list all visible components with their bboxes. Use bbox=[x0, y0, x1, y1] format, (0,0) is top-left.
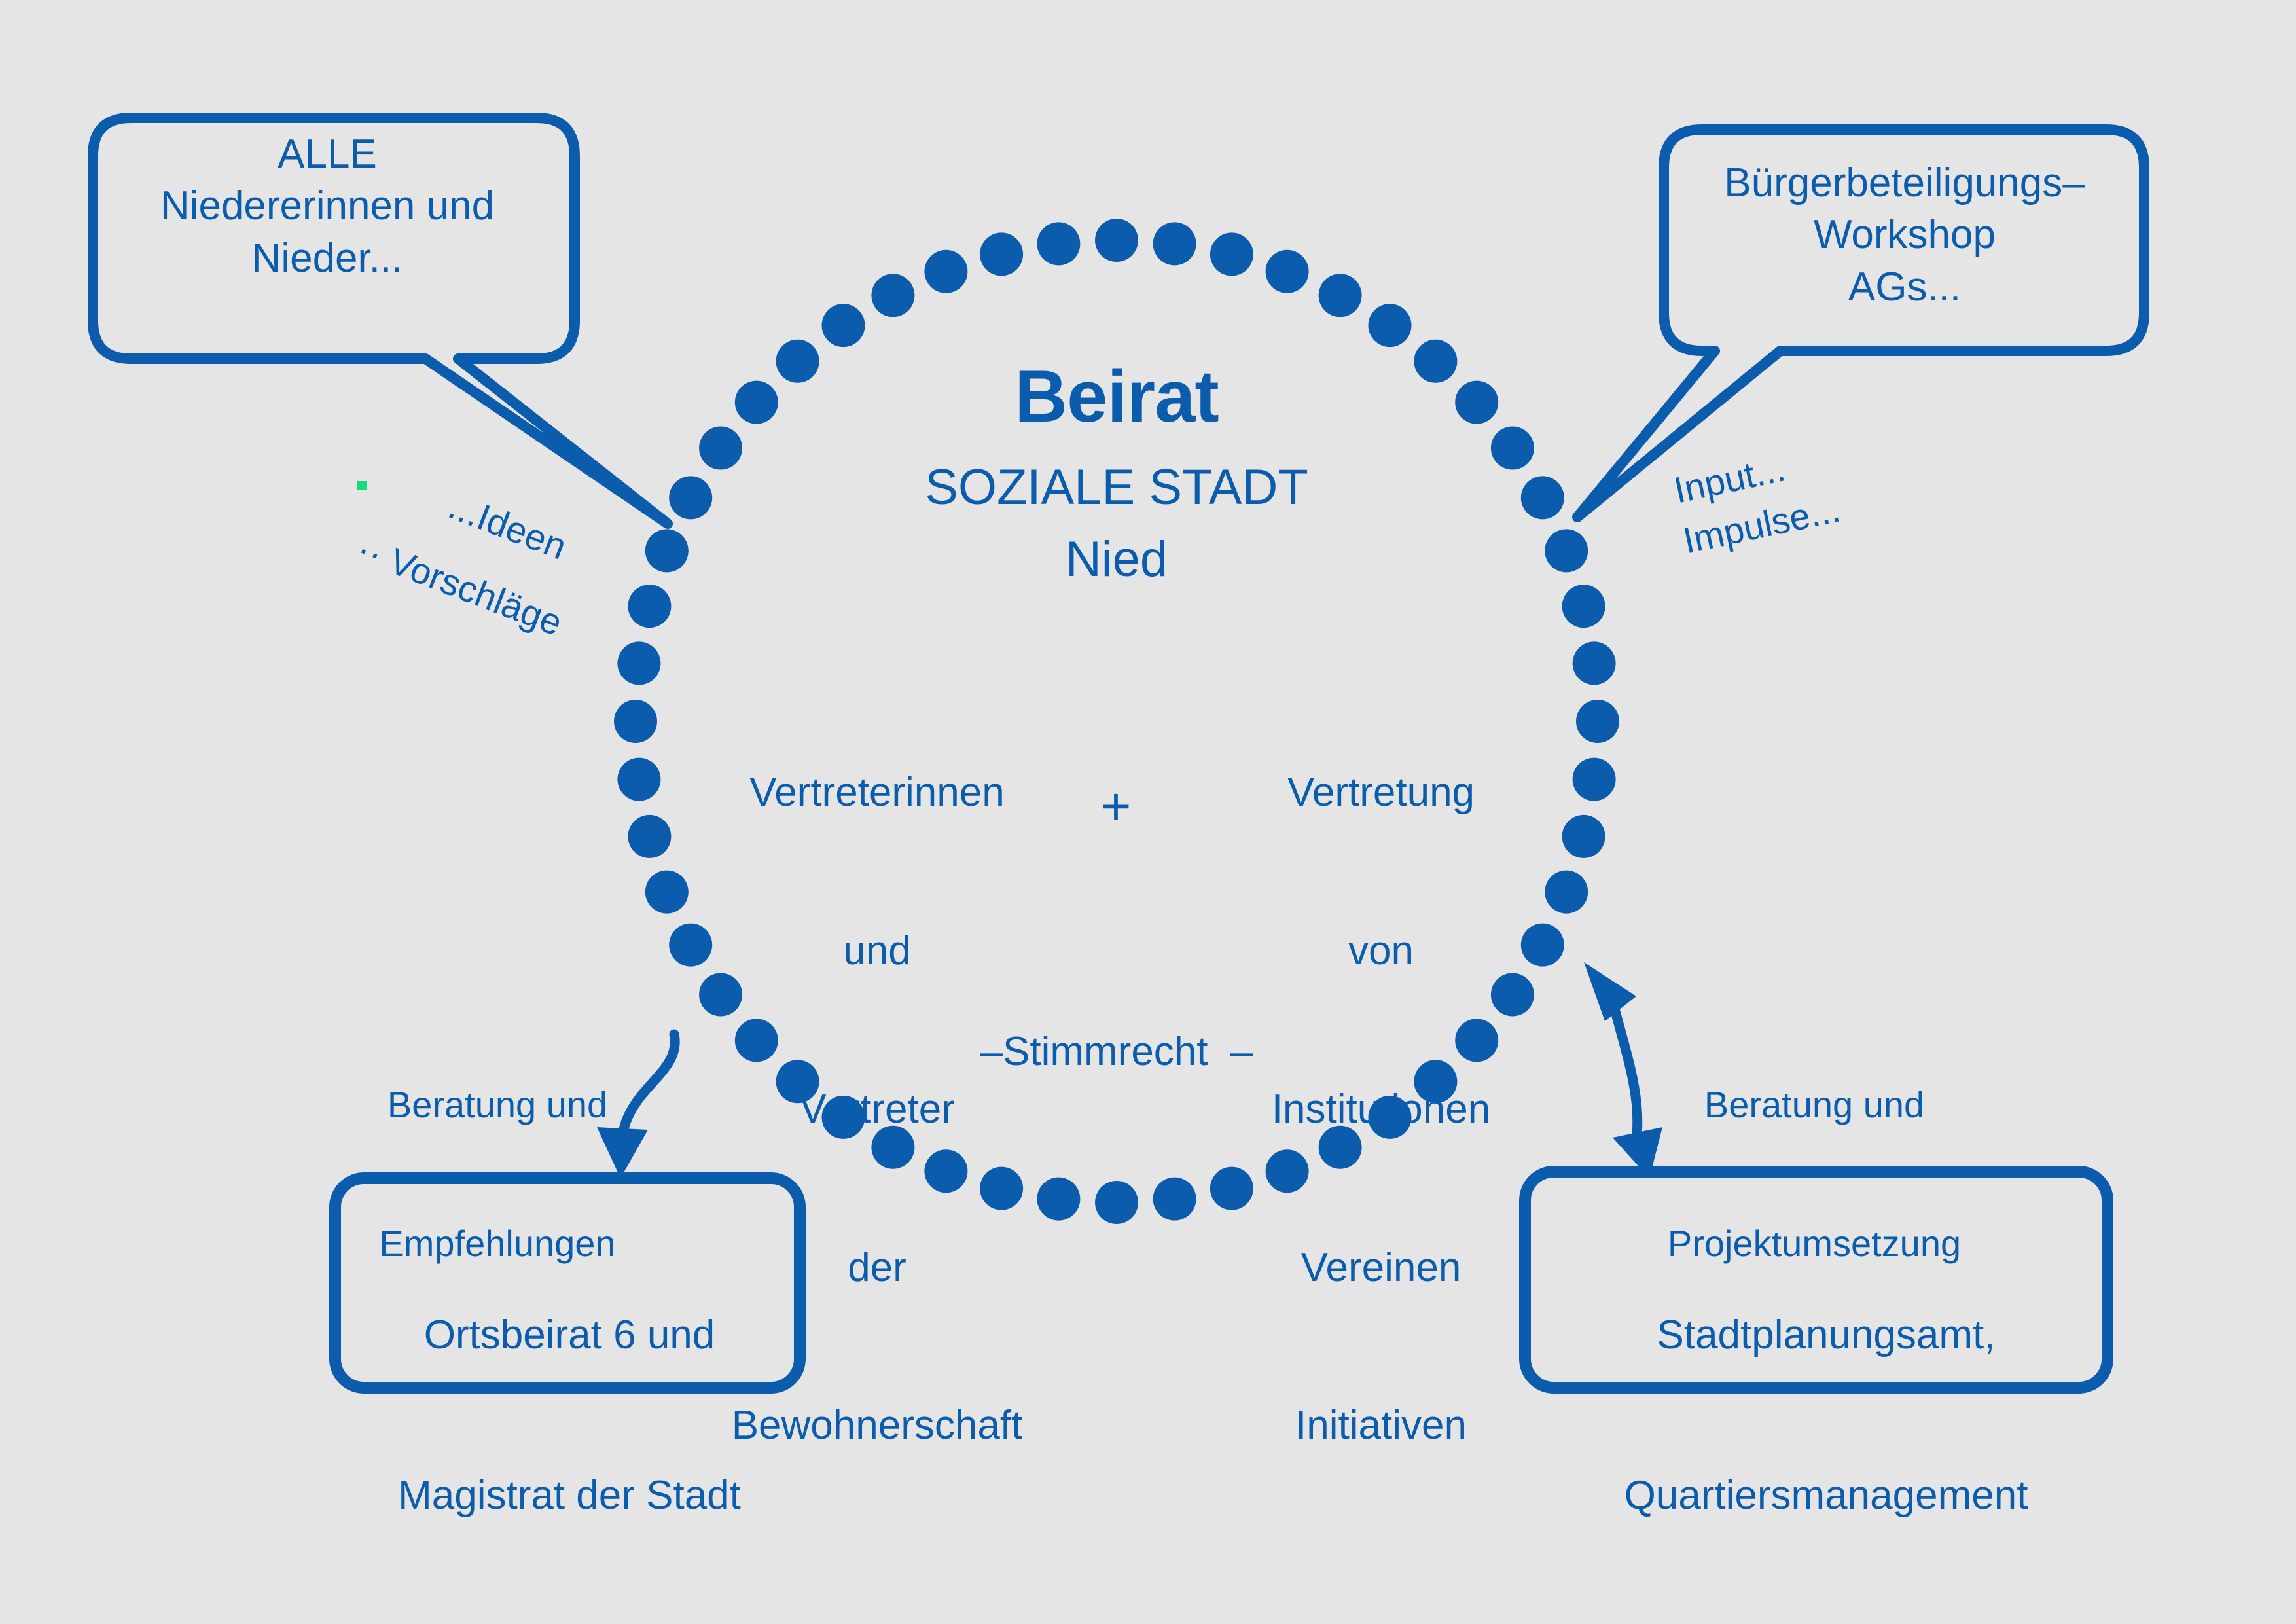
bottom-left-line-1: Ortsbeirat 6 und bbox=[340, 1308, 798, 1362]
ring-dot bbox=[1562, 585, 1605, 628]
diagram-subtitle-line2: Nied bbox=[888, 530, 1346, 589]
ring-dot bbox=[980, 232, 1023, 276]
bubble-left-line-2: Niedererinnen und bbox=[98, 180, 556, 232]
ring-dot bbox=[617, 641, 660, 685]
members-right-line-4: Vereinen bbox=[1178, 1242, 1584, 1295]
members-left-line-1: Vertreterinnen bbox=[674, 767, 1080, 820]
annotation-beratung-left-line-1: Beratung und bbox=[353, 1082, 641, 1128]
bottom-left-line-2: Magistrat der Stadt bbox=[340, 1469, 798, 1523]
members-right-line-1: Vertretung bbox=[1178, 767, 1584, 820]
bottom-right-line-2: Quartiersmanagement bbox=[1545, 1469, 2108, 1523]
members-right-column: Vertretung von Institutionen Vereinen In… bbox=[1178, 661, 1584, 1558]
ring-dot bbox=[1153, 222, 1196, 265]
ring-dot bbox=[617, 758, 660, 801]
green-marker-dot bbox=[357, 481, 367, 490]
bubble-left-line-1: ALLE bbox=[98, 128, 556, 180]
ring-dot bbox=[614, 700, 657, 743]
ring-dot bbox=[776, 340, 819, 383]
annotation-beratung-right-line-1: Beratung und bbox=[1644, 1082, 1984, 1128]
ring-dot bbox=[1319, 274, 1362, 317]
speech-bubble-left-text: ALLE Niedererinnen und Nieder... bbox=[98, 128, 556, 284]
members-right-line-2: von bbox=[1178, 925, 1584, 978]
bottom-right-line-1: Stadtplanungsamt, bbox=[1545, 1308, 2108, 1362]
bubble-right-line-2: Workshop bbox=[1676, 209, 2134, 261]
ring-dot bbox=[871, 274, 914, 317]
arrowhead-up-right bbox=[1584, 962, 1636, 1021]
bottom-right-box-text: Stadtplanungsamt, Quartiersmanagement un… bbox=[1545, 1201, 2108, 1624]
ring-dot bbox=[699, 427, 742, 470]
members-right-line-3: Institutionen bbox=[1178, 1083, 1584, 1136]
ring-dot bbox=[1521, 476, 1564, 519]
ring-dot bbox=[628, 815, 671, 858]
diagram-subtitle-line1: SOZIALE STADT bbox=[822, 458, 1411, 517]
diagram-canvas: ALLE Niedererinnen und Nieder... Bürgerb… bbox=[0, 0, 2296, 1624]
ring-dot bbox=[1545, 529, 1588, 572]
ring-dot bbox=[1369, 304, 1412, 347]
bottom-left-box-text: Ortsbeirat 6 und Magistrat der Stadt Fra… bbox=[340, 1201, 798, 1624]
ring-dot bbox=[1095, 219, 1138, 262]
ring-dot bbox=[1095, 1181, 1138, 1224]
plus-operator: + bbox=[1073, 776, 1158, 837]
ring-dot bbox=[924, 250, 967, 293]
ring-dot bbox=[822, 304, 865, 347]
ring-dot bbox=[735, 381, 778, 424]
ring-dot bbox=[1266, 250, 1309, 293]
bubble-right-line-3: AGs... bbox=[1676, 261, 2134, 313]
ring-dot bbox=[628, 585, 671, 628]
ring-dot bbox=[1491, 427, 1534, 470]
members-left-line-2: und bbox=[674, 925, 1080, 978]
members-left-line-3: Vertreter bbox=[674, 1083, 1080, 1136]
ring-dot bbox=[1455, 381, 1498, 424]
ring-dot bbox=[645, 529, 689, 572]
ring-dot bbox=[1210, 232, 1253, 276]
bubble-left-line-3: Nieder... bbox=[98, 232, 556, 284]
bubble-right-line-1: Bürgerbeteiligungs– bbox=[1676, 157, 2134, 209]
diagram-title: Beirat bbox=[888, 353, 1346, 440]
arrow-to-circle-right bbox=[1615, 1011, 1638, 1140]
ring-dot bbox=[669, 476, 712, 519]
voting-rights-note: –Stimmrecht – bbox=[920, 1028, 1313, 1075]
speech-bubble-right-text: Bürgerbeteiligungs– Workshop AGs... bbox=[1676, 157, 2134, 313]
ring-dot bbox=[1037, 222, 1080, 265]
ring-dot bbox=[1414, 340, 1457, 383]
members-right-line-5: Initiativen bbox=[1178, 1399, 1584, 1453]
